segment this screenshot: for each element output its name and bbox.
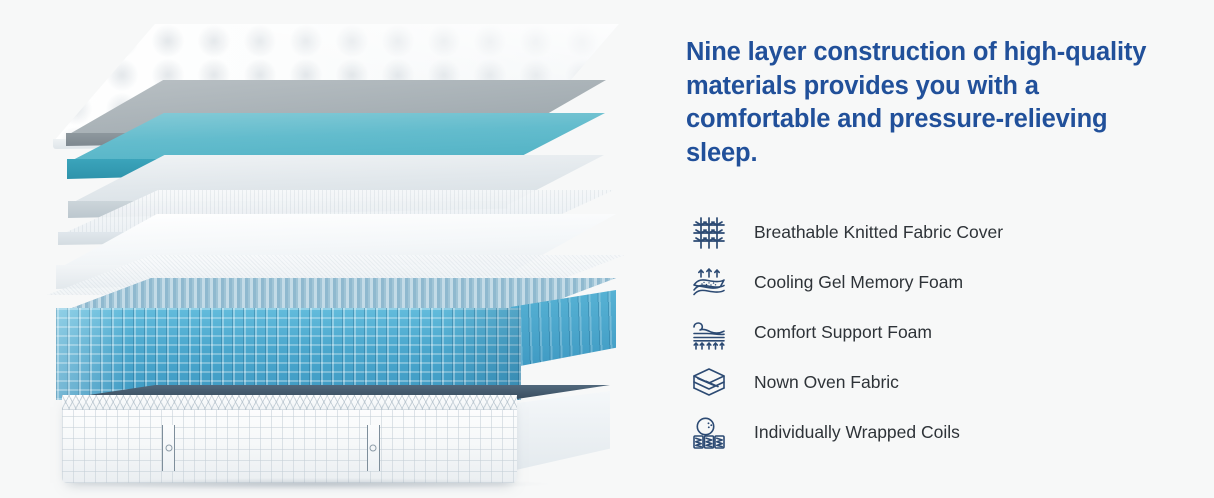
mattress-feature-banner: Nine layer construction of high-quality … — [0, 0, 1214, 498]
feature-row-comfort-support-foam: Comfort Support Foam — [686, 308, 1184, 358]
feature-label: Breathable Knitted Fabric Cover — [754, 224, 1003, 242]
feature-list: Breathable Knitted Fabric Cover — [686, 208, 1184, 458]
feature-row-cooling-gel-foam: Cooling Gel Memory Foam — [686, 258, 1184, 308]
feature-row-knitted-fabric: Breathable Knitted Fabric Cover — [686, 208, 1184, 258]
layer-quilted-base-border — [62, 385, 610, 487]
feature-label: Comfort Support Foam — [754, 324, 932, 342]
nonwoven-fabric-icon — [686, 362, 732, 404]
comfort-support-foam-icon — [686, 312, 732, 354]
base-right-face — [511, 391, 610, 471]
base-handle-left — [162, 425, 175, 471]
cooling-gel-foam-icon — [686, 262, 732, 304]
page-title: Nine layer construction of high-quality … — [686, 36, 1184, 171]
feature-row-wrapped-coils: Individually Wrapped Coils — [686, 408, 1184, 458]
wrapped-coils-icon — [686, 412, 732, 454]
knitted-fabric-icon — [686, 212, 732, 254]
layer-pocket-coils — [56, 278, 616, 398]
layer-stack — [0, 0, 672, 498]
exploded-mattress-illustration — [0, 0, 672, 498]
base-handle-right — [367, 425, 380, 471]
content-column: Nine layer construction of high-quality … — [672, 0, 1214, 498]
base-piping-trim — [62, 395, 517, 410]
feature-label: Cooling Gel Memory Foam — [754, 274, 963, 292]
floor-shadow — [78, 478, 548, 490]
feature-label: Nown Oven Fabric — [754, 374, 899, 392]
feature-label: Individually Wrapped Coils — [754, 424, 960, 442]
base-front-panel — [62, 395, 517, 483]
feature-row-non-woven-fabric: Nown Oven Fabric — [686, 358, 1184, 408]
